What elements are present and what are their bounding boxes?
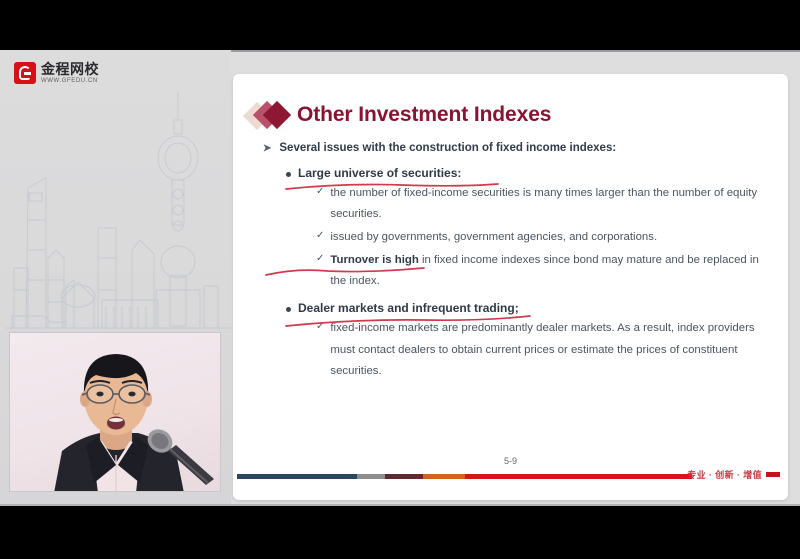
letterbox-bottom: [0, 506, 800, 559]
sub-point-bold-prefix: Turnover is high: [330, 254, 418, 266]
lead-in-text: Several issues with the construction of …: [279, 142, 616, 154]
slide-footer: 5-9 专业 · 创新 · 增值: [233, 454, 788, 500]
slide-title-row: Other Investment Indexes: [247, 98, 551, 132]
footer-slogan: 专业 · 创新 · 增值: [687, 468, 780, 481]
sub-point-turnover: ✓ Turnover is high in fixed income index…: [316, 250, 775, 292]
page-number: 5-9: [233, 456, 788, 466]
presentation-slide: Other Investment Indexes ➤ Several issue…: [233, 74, 788, 500]
diamond-decoration-icon: [247, 100, 297, 130]
check-bullet-icon: ✓: [316, 318, 324, 337]
color-bar-segment-2: [385, 474, 423, 479]
dot-bullet-icon: [286, 172, 291, 177]
sub-point-text: the number of fixed-income securities is…: [330, 183, 775, 225]
color-bar-segment-3: [423, 474, 465, 479]
left-panel: 金程网校 WWW.GFEDU.CN: [0, 50, 231, 506]
check-bullet-icon: ✓: [316, 227, 324, 246]
arrow-bullet-icon: ➤: [263, 142, 271, 156]
brand-name: 金程网校: [41, 62, 99, 76]
video-player-frame: 金程网校 WWW.GFEDU.CN: [0, 0, 800, 559]
instructor-video[interactable]: [9, 332, 221, 492]
footer-slogan-text: 专业 · 创新 · 增值: [687, 468, 762, 481]
letterbox-top: [0, 0, 800, 50]
sub-point-text: issued by governments, government agenci…: [330, 227, 657, 248]
sub-point-text: fixed-income markets are predominantly d…: [330, 318, 775, 381]
color-bar-segment-4: [465, 474, 692, 479]
brand-logo: 金程网校 WWW.GFEDU.CN: [14, 62, 99, 84]
bullet-lead-in: ➤ Several issues with the construction o…: [263, 142, 775, 156]
check-bullet-icon: ✓: [316, 250, 324, 269]
section-heading-1-text: Large universe of securities:: [298, 166, 461, 180]
sub-point: ✓ the number of fixed-income securities …: [316, 183, 775, 225]
section-heading-1: Large universe of securities:: [286, 166, 775, 180]
brand-text: 金程网校 WWW.GFEDU.CN: [41, 62, 99, 84]
gf-logo-icon: [14, 62, 36, 84]
slogan-dash-icon: [766, 472, 780, 477]
instructor-figure: [10, 333, 221, 492]
dot-bullet-icon: [286, 307, 291, 312]
sub-point-text: Turnover is high in fixed income indexes…: [330, 250, 775, 292]
section-heading-2: Dealer markets and infrequent trading;: [286, 301, 775, 315]
footer-color-bar: [237, 474, 692, 479]
brand-url: WWW.GFEDU.CN: [41, 78, 99, 84]
color-bar-segment-1: [357, 474, 385, 479]
check-bullet-icon: ✓: [316, 183, 324, 202]
slide-body: ➤ Several issues with the construction o…: [253, 142, 775, 384]
section-heading-2-text: Dealer markets and infrequent trading;: [298, 301, 519, 315]
slide-title: Other Investment Indexes: [297, 103, 551, 127]
sub-point: ✓ issued by governments, government agen…: [316, 227, 775, 248]
shanghai-skyline-watermark: [6, 90, 231, 340]
color-bar-segment-0: [237, 474, 357, 479]
video-stage: 金程网校 WWW.GFEDU.CN: [0, 50, 800, 506]
sub-point: ✓ fixed-income markets are predominantly…: [316, 318, 775, 381]
